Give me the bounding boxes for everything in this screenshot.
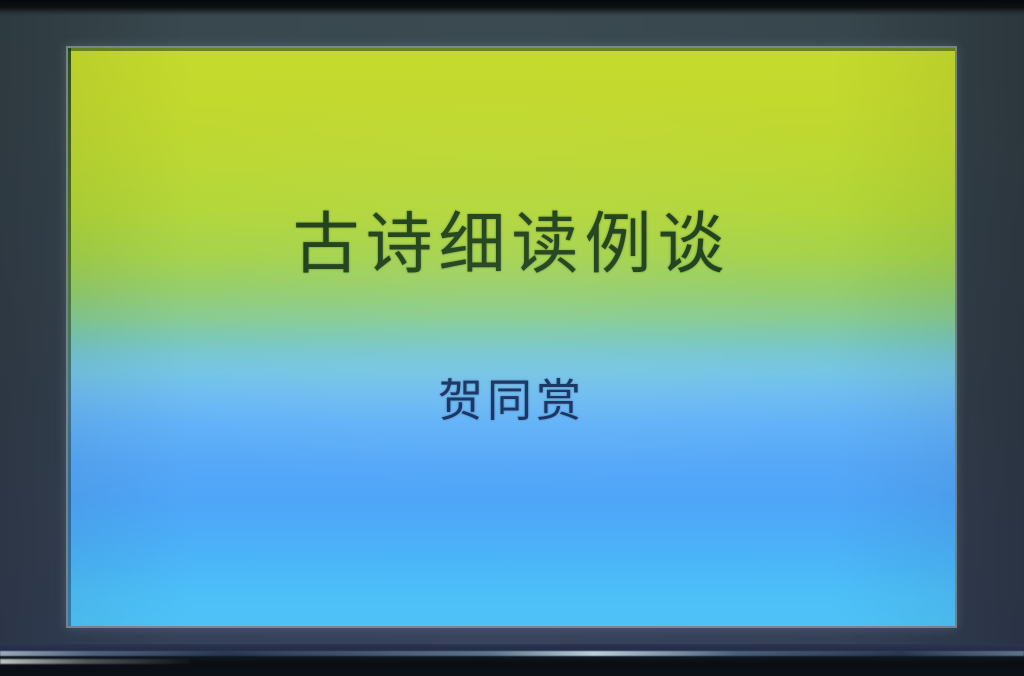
presentation-slide: 古诗细读例谈 贺同赏 bbox=[68, 48, 955, 626]
slide-title: 古诗细读例谈 bbox=[68, 211, 955, 278]
ceiling-shadow-strip bbox=[0, 0, 1024, 16]
bottom-light-streak-secondary bbox=[0, 659, 190, 664]
bottom-light-streak bbox=[0, 651, 1024, 656]
projected-slide-photo: 古诗细读例谈 贺同赏 bbox=[0, 0, 1024, 676]
slide-subtitle-author: 贺同赏 bbox=[68, 378, 955, 423]
slide-text-block: 古诗细读例谈 贺同赏 bbox=[68, 48, 955, 626]
projection-screen: 古诗细读例谈 贺同赏 bbox=[66, 46, 957, 628]
